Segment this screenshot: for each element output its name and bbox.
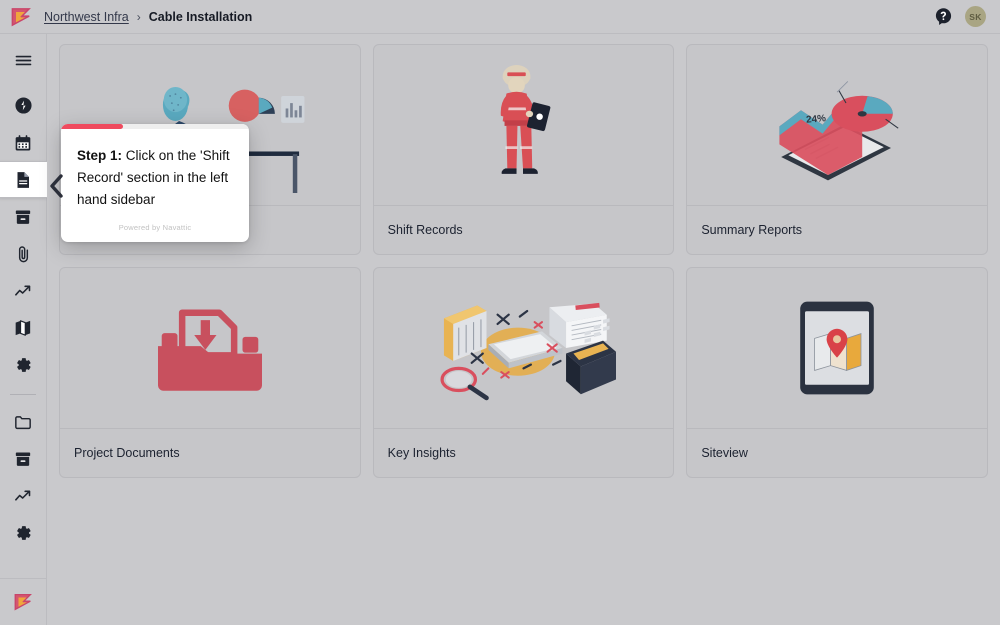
card-label: Key Insights: [374, 428, 674, 477]
sidebar-item-shift-records[interactable]: [0, 161, 47, 198]
card-label: Summary Reports: [687, 205, 987, 254]
sidebar-item-analytics[interactable]: [0, 272, 47, 309]
help-question-icon[interactable]: [934, 7, 953, 26]
sidebar-item-attachments[interactable]: [0, 235, 47, 272]
app-root: Northwest Infra › Cable Installation SK: [0, 0, 1000, 625]
guide-tooltip[interactable]: Step 1: Click on the 'Shift Record' sect…: [61, 124, 249, 242]
sidebar-footer-logo[interactable]: [0, 579, 47, 625]
breadcrumb-separator-icon: ›: [137, 10, 141, 24]
sidebar-item-menu-toggle[interactable]: [0, 42, 47, 78]
breadcrumb: Northwest Infra › Cable Installation: [44, 10, 252, 24]
sidebar-item-archive-2[interactable]: [0, 440, 47, 477]
breadcrumb-current: Cable Installation: [149, 10, 253, 24]
tablet-map-pin-illustration: [687, 268, 987, 428]
tooltip-text: Step 1: Click on the 'Shift Record' sect…: [77, 145, 233, 211]
phone-charts-illustration: 24%: [687, 45, 987, 205]
worker-with-tablet-illustration: [374, 45, 674, 205]
top-bar-actions: SK: [934, 6, 986, 27]
sidebar-item-calendar[interactable]: [0, 124, 47, 161]
sidebar-item-analytics-2[interactable]: [0, 477, 47, 514]
folder-download-illustration: [60, 268, 360, 428]
sidebar-divider: [10, 394, 36, 395]
navattic-flag-logo-icon-footer: [13, 593, 33, 611]
avatar[interactable]: SK: [965, 6, 986, 27]
card-label: Siteview: [687, 428, 987, 477]
tooltip-step-label: Step 1:: [77, 148, 122, 163]
tooltip-body: Step 1: Click on the 'Shift Record' sect…: [61, 129, 249, 215]
main-content: Shift Records: [47, 34, 1000, 625]
card-shift-records[interactable]: Shift Records: [373, 44, 675, 255]
card-project-documents[interactable]: Project Documents: [59, 267, 361, 478]
sidebar-item-archive[interactable]: [0, 198, 47, 235]
tooltip-footer-credit: Powered by Navattic: [61, 215, 249, 242]
sidebar-item-folder[interactable]: [0, 403, 47, 440]
card-label: Shift Records: [374, 205, 674, 254]
card-siteview[interactable]: Siteview: [686, 267, 988, 478]
desk-objects-illustration: [374, 268, 674, 428]
sidebar-item-map[interactable]: [0, 309, 47, 346]
card-key-insights[interactable]: Key Insights: [373, 267, 675, 478]
sidebar-item-settings-2[interactable]: [0, 514, 47, 551]
chart-annotation-value: 24%: [806, 113, 827, 126]
tooltip-prev-chevron-icon[interactable]: [49, 172, 65, 200]
sidebar-item-settings[interactable]: [0, 346, 47, 383]
breadcrumb-root-link[interactable]: Northwest Infra: [44, 10, 129, 24]
top-bar: Northwest Infra › Cable Installation SK: [0, 0, 1000, 34]
sidebar-item-dashboard[interactable]: [0, 87, 47, 124]
card-grid: Shift Records: [59, 44, 988, 478]
sidebar: [0, 34, 47, 625]
navattic-flag-logo-icon[interactable]: [10, 7, 32, 27]
card-summary-reports[interactable]: 24% Summary Reports: [686, 44, 988, 255]
card-label: Project Documents: [60, 428, 360, 477]
